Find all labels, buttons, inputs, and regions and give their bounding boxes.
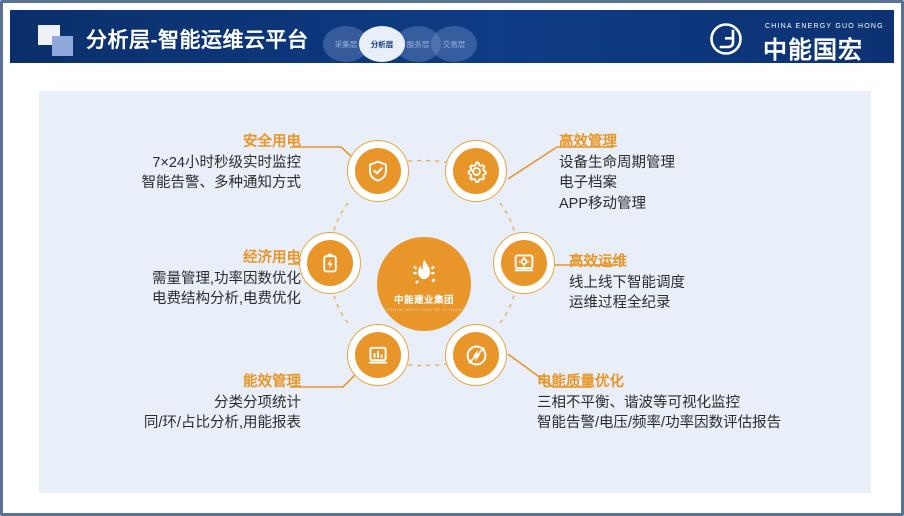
block-efficient-ops: 高效运维 线上线下智能调度 运维过程全纪录	[569, 253, 859, 314]
hub-name: 中能建业集团	[394, 292, 454, 306]
brand-logo: CHINA ENERGY GUO HONG 中能国宏	[709, 20, 874, 58]
center-hub[interactable]: 中能建业集团 ZHONG NENG JIAN YE JI TUAN	[377, 237, 471, 331]
circular-gl-emblem-icon	[709, 22, 757, 56]
two-squares-logo-icon	[38, 25, 78, 57]
block-title: 高效管理	[559, 133, 859, 153]
brand-chinese-name: 中能国宏	[763, 30, 863, 63]
node-safe-electricity[interactable]	[347, 140, 409, 202]
block-safe-electricity: 安全用电 7×24小时秒级实时监控 智能告警、多种通知方式	[33, 133, 301, 194]
block-line: APP移动管理	[559, 194, 859, 215]
block-line: 设备生命周期管理	[559, 153, 859, 174]
block-line: 三相不平衡、谐波等可视化监控	[537, 393, 877, 414]
tab-label: 分析层	[371, 39, 394, 50]
page-title: 分析层-智能运维云平台	[86, 24, 309, 54]
tab-trade-layer[interactable]: 交易层	[431, 26, 477, 62]
gear-icon	[464, 159, 489, 184]
block-title: 经济用电	[28, 249, 301, 269]
shield-check-icon	[366, 159, 390, 183]
slide-root: 分析层-智能运维云平台 采集层 分析层 服务层 交易层 CHINA ENERGY…	[0, 0, 904, 516]
hub-pinyin: ZHONG NENG JIAN YE JI TUAN	[386, 307, 461, 312]
logo-square-blue	[52, 36, 73, 56]
block-title: 安全用电	[33, 133, 301, 153]
block-line: 电费结构分析,电费优化	[28, 289, 301, 310]
block-line: 智能告警、多种通知方式	[33, 173, 301, 194]
block-line: 需量管理,功率因数优化	[28, 269, 301, 290]
bolt-circle-icon	[464, 343, 489, 368]
brand-english-name: CHINA ENERGY GUO HONG	[765, 23, 884, 30]
node-icon-wrap	[355, 148, 401, 194]
node-energy-efficiency[interactable]	[347, 324, 409, 386]
monitor-gear-icon	[512, 251, 536, 275]
node-icon-wrap	[453, 332, 499, 378]
header-bar: 分析层-智能运维云平台 采集层 分析层 服务层 交易层 CHINA ENERGY…	[10, 10, 894, 63]
block-energy-efficiency: 能效管理 分类分项统计 同/环/占比分析,用能报表	[28, 373, 301, 434]
node-icon-wrap	[501, 240, 547, 286]
block-title: 电能质量优化	[537, 373, 877, 393]
block-line: 同/环/占比分析,用能报表	[28, 413, 301, 434]
node-economic-electricity[interactable]	[299, 232, 361, 294]
node-icon-wrap	[307, 240, 353, 286]
battery-bolt-icon	[318, 251, 342, 275]
node-power-quality[interactable]	[445, 324, 507, 386]
node-efficient-management[interactable]	[445, 140, 507, 202]
block-power-quality: 电能质量优化 三相不平衡、谐波等可视化监控 智能告警/电压/频率/功率因数评估报…	[537, 373, 877, 434]
block-line: 7×24小时秒级实时监控	[33, 153, 301, 174]
tab-analysis-layer[interactable]: 分析层	[359, 26, 405, 62]
block-efficient-management: 高效管理 设备生命周期管理 电子档案 APP移动管理	[559, 133, 859, 214]
block-title: 能效管理	[28, 373, 301, 393]
node-icon-wrap	[355, 332, 401, 378]
block-title: 高效运维	[569, 253, 859, 273]
bar-chart-icon	[366, 343, 390, 367]
tab-label: 采集层	[335, 39, 358, 50]
node-icon-wrap	[453, 148, 499, 194]
block-line: 线上线下智能调度	[569, 273, 859, 294]
tab-label: 服务层	[407, 39, 430, 50]
block-line: 分类分项统计	[28, 393, 301, 414]
block-line: 电子档案	[559, 173, 859, 194]
node-efficient-ops[interactable]	[493, 232, 555, 294]
flame-gear-emblem-icon	[407, 257, 441, 291]
block-line: 智能告警/电压/频率/功率因数评估报告	[537, 413, 877, 434]
tab-label: 交易层	[443, 39, 466, 50]
hexagon-diagram: 中能建业集团 ZHONG NENG JIAN YE JI TUAN	[299, 138, 549, 388]
block-economic-electricity: 经济用电 需量管理,功率因数优化 电费结构分析,电费优化	[28, 249, 301, 310]
block-line: 运维过程全纪录	[569, 293, 859, 314]
